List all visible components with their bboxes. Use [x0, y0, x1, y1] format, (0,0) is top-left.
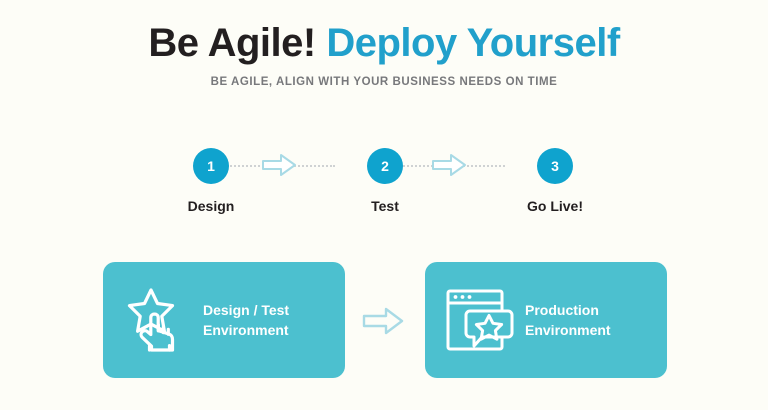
slide-canvas: Be Agile! Deploy Yourself BE AGILE, ALIG… — [0, 0, 768, 410]
step-label: Design — [163, 198, 259, 214]
step-number-badge: 2 — [367, 148, 403, 184]
card-label-line2: Environment — [525, 320, 667, 340]
card-label: Production Environment — [519, 300, 667, 341]
step-item-test[interactable]: 2 Test — [337, 148, 433, 214]
environment-cards: Design / Test Environment — [0, 262, 768, 380]
step-label: Go Live! — [507, 198, 603, 214]
step-number-badge: 1 — [193, 148, 229, 184]
step-label: Test — [337, 198, 433, 214]
arrow-right-outline-icon — [362, 306, 404, 341]
page-title: Be Agile! Deploy Yourself — [0, 22, 768, 64]
card-design-test-environment[interactable]: Design / Test Environment — [103, 262, 345, 378]
step-item-design[interactable]: 1 Design — [163, 148, 259, 214]
card-label: Design / Test Environment — [197, 300, 345, 341]
header-block: Be Agile! Deploy Yourself BE AGILE, ALIG… — [0, 22, 768, 88]
page-subtitle: BE AGILE, ALIGN WITH YOUR BUSINESS NEEDS… — [0, 76, 768, 88]
card-label-line1: Production — [525, 302, 599, 318]
title-dark-part: Be Agile! — [148, 21, 315, 65]
step-flow: 1 Design 2 Test 3 Go Live! — [175, 148, 595, 226]
browser-window-star-bubble-icon — [441, 287, 519, 353]
title-accent-text: Deploy Yourself — [326, 21, 619, 65]
card-production-environment[interactable]: Production Environment — [425, 262, 667, 378]
step-number-badge: 3 — [537, 148, 573, 184]
star-hand-pointer-icon — [119, 287, 197, 353]
arrow-right-outline-icon — [431, 153, 467, 182]
title-accent-part — [316, 21, 327, 65]
arrow-right-outline-icon — [261, 153, 297, 182]
step-item-go-live[interactable]: 3 Go Live! — [507, 148, 603, 214]
card-label-line2: Environment — [203, 320, 345, 340]
card-label-line1: Design / Test — [203, 302, 289, 318]
